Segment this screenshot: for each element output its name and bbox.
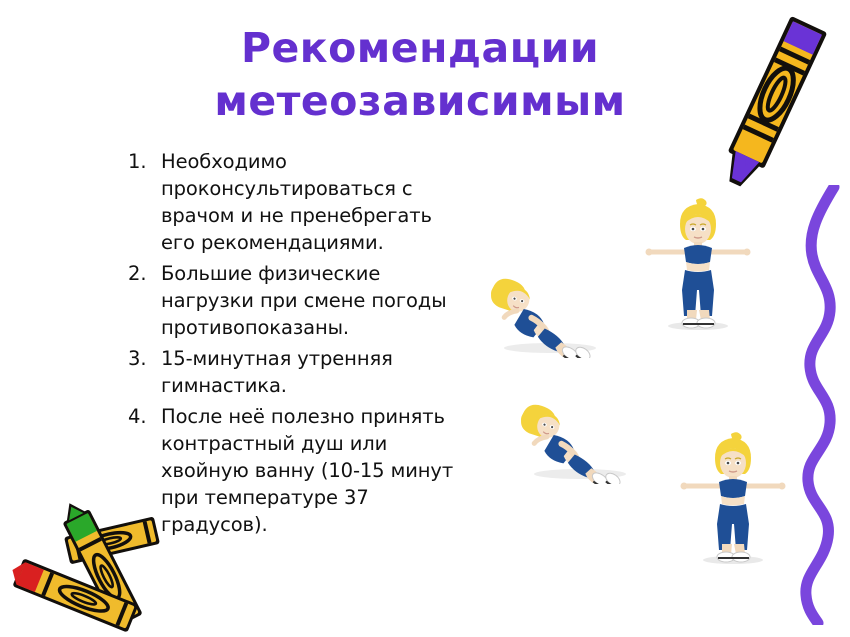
purple-tipped-yellow-crayon-icon xyxy=(700,0,850,205)
list-item: 2. Большие физические нагрузки при смене… xyxy=(128,260,458,341)
slide-canvas: Рекомендации метеозависимым 1. Необходим… xyxy=(0,0,850,637)
purple-wavy-crayon-stroke-icon xyxy=(788,185,850,625)
list-item-number: 4. xyxy=(128,403,161,430)
list-item-number: 2. xyxy=(128,260,161,287)
page-title: Рекомендации метеозависимым xyxy=(110,22,730,128)
list-item: 3. 15-минутная утренняя гимнастика. xyxy=(128,345,458,399)
exercise-figure-lying-lower xyxy=(510,404,640,484)
exercise-figure-standing-arms-out-upper xyxy=(638,196,758,336)
list-item-text: 15-минутная утренняя гимнастика. xyxy=(161,345,458,399)
list-item-text: После неё полезно принять контрастный ду… xyxy=(161,403,458,538)
recommendations-list: 1. Необходимо проконсультироваться с вра… xyxy=(128,148,458,542)
list-item-number: 3. xyxy=(128,345,161,372)
exercise-figure-lying-upper xyxy=(480,278,610,358)
list-item: 1. Необходимо проконсультироваться с вра… xyxy=(128,148,458,256)
list-item-text: Большие физические нагрузки при смене по… xyxy=(161,260,458,341)
list-item-text: Необходимо проконсультироваться с врачом… xyxy=(161,148,458,256)
exercise-figure-standing-arms-out-lower xyxy=(673,430,793,570)
list-item-number: 1. xyxy=(128,148,161,175)
crayon-cluster-icon xyxy=(5,495,185,637)
